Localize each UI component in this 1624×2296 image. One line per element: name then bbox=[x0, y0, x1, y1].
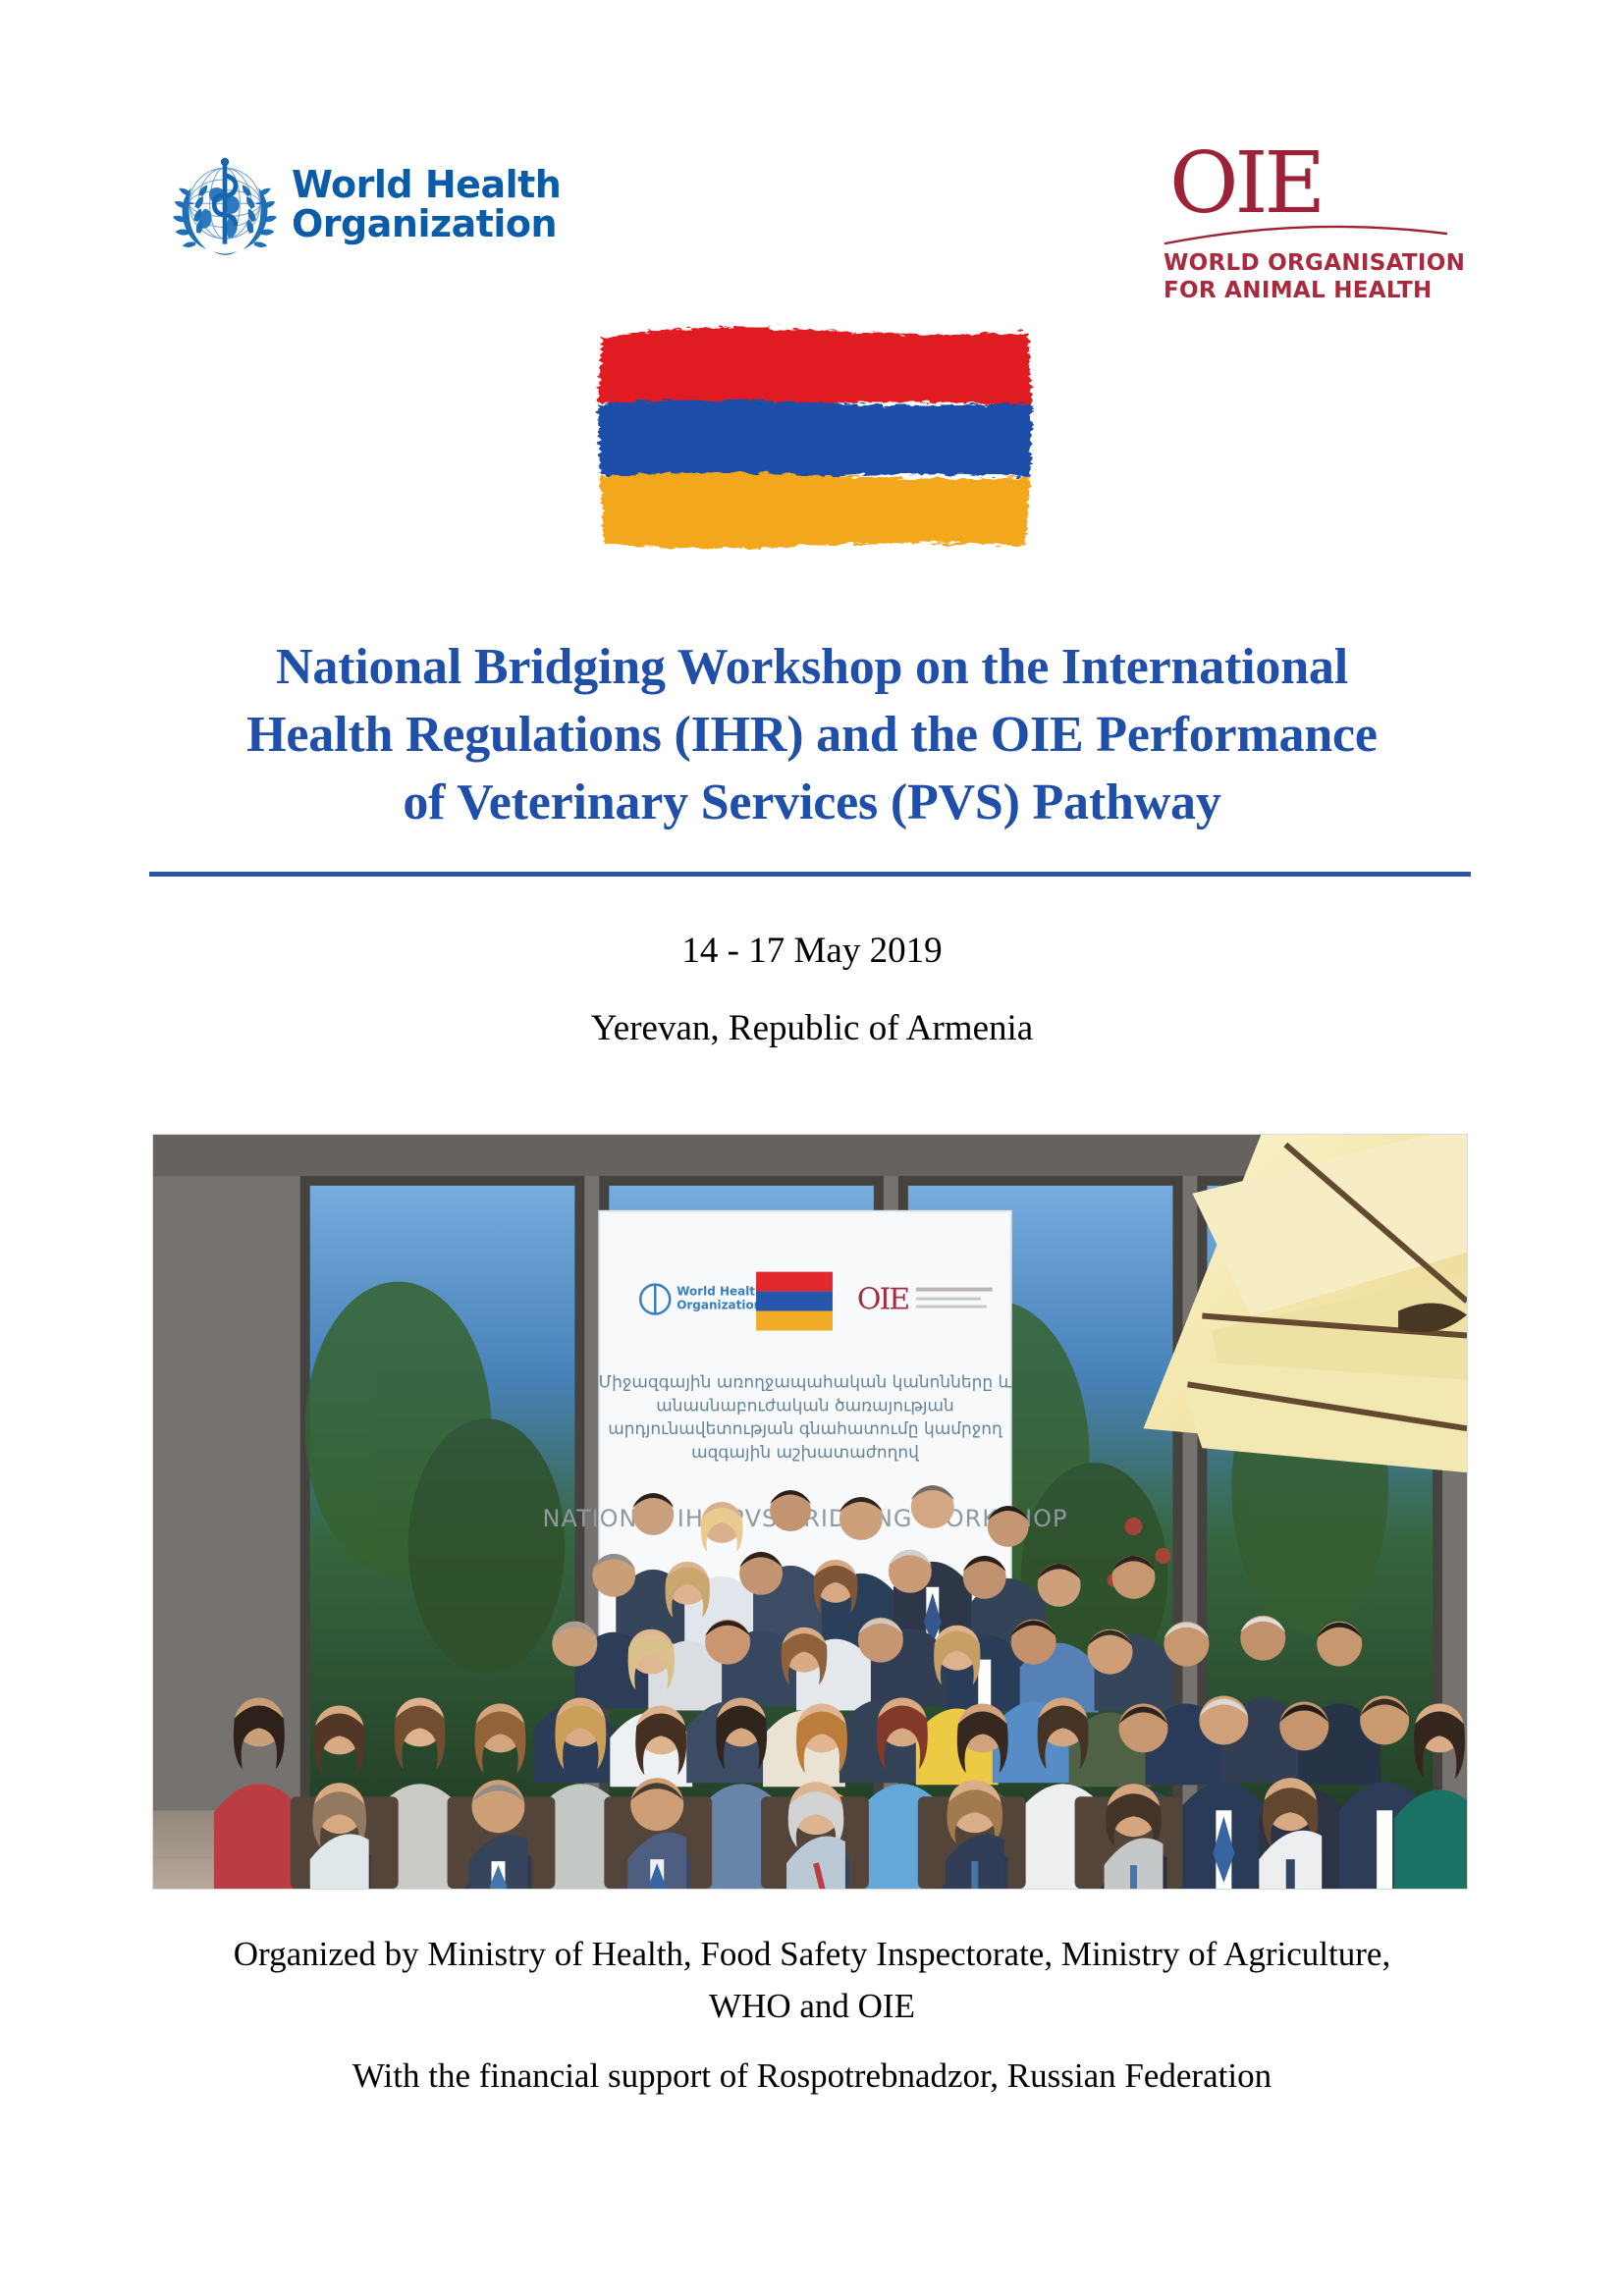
event-location: Yerevan, Republic of Armenia bbox=[149, 1010, 1475, 1046]
page-title: National Bridging Workshop on the Intern… bbox=[149, 633, 1475, 836]
oie-subtitle-line2: FOR ANIMAL HEALTH bbox=[1164, 277, 1488, 304]
oie-swoosh-icon bbox=[1164, 224, 1448, 245]
group-photo: World Health Organization OIE Միջազգային… bbox=[152, 1134, 1468, 1890]
who-logo: World Health Organization bbox=[172, 152, 561, 258]
event-meta: 14 - 17 May 2019 Yerevan, Republic of Ar… bbox=[149, 933, 1475, 1046]
title-divider bbox=[149, 872, 1471, 877]
oie-wordmark-text: OIE bbox=[1169, 141, 1322, 226]
organizers-caption-line2: WHO and OIE bbox=[118, 1981, 1506, 2033]
armenia-flag-icon bbox=[574, 304, 1051, 564]
organizers-caption: Organized by Ministry of Health, Food Sa… bbox=[118, 1929, 1506, 2032]
oie-logo-subtitle: WORLD ORGANISATION FOR ANIMAL HEALTH bbox=[1164, 249, 1488, 304]
oie-wordmark-icon: OIE bbox=[1164, 147, 1458, 241]
oie-logo: OIE WORLD ORGANISATION FOR ANIMAL HEALTH bbox=[1164, 147, 1488, 304]
organizers-caption-line1: Organized by Ministry of Health, Food Sa… bbox=[118, 1929, 1506, 1981]
who-emblem-icon bbox=[172, 152, 278, 258]
financial-support-caption: With the financial support of Rospotrebn… bbox=[118, 2052, 1506, 2100]
who-logo-line1: World Health bbox=[292, 166, 561, 205]
page-title-line1: National Bridging Workshop on the Intern… bbox=[149, 633, 1475, 701]
page-title-line2: Health Regulations (IHR) and the OIE Per… bbox=[149, 701, 1475, 769]
oie-subtitle-line1: WORLD ORGANISATION bbox=[1164, 249, 1488, 277]
event-dates: 14 - 17 May 2019 bbox=[149, 933, 1475, 969]
header-logo-row: World Health Organization OIE WORLD ORGA… bbox=[0, 0, 1624, 294]
page-title-line3: of Veterinary Services (PVS) Pathway bbox=[149, 769, 1475, 836]
who-logo-text: World Health Organization bbox=[292, 166, 561, 244]
who-logo-line2: Organization bbox=[292, 205, 561, 244]
